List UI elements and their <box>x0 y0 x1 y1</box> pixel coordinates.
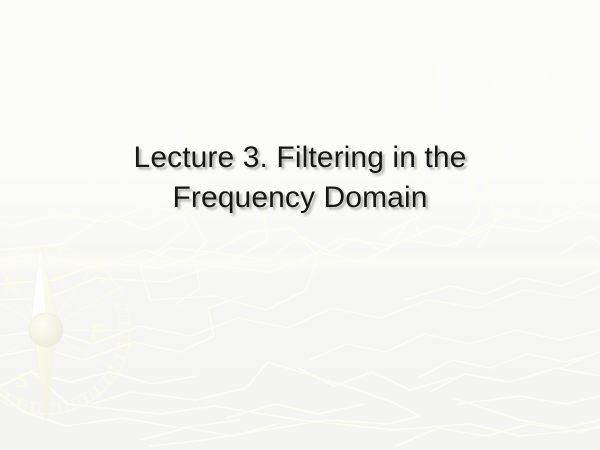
compass-label-w: W <box>2 274 21 296</box>
compass-rose-watermark: N E S W <box>0 0 600 450</box>
background-tone-band <box>0 252 600 274</box>
title-line-2: Frequency Domain <box>0 178 600 218</box>
compass-label-e: E <box>89 319 105 344</box>
page-title: Lecture 3. Filtering in the Frequency Do… <box>0 138 600 218</box>
compass-cardinal-labels: N E S W <box>2 264 104 392</box>
compass-label-s: S <box>16 367 28 392</box>
compass-needle <box>32 246 58 424</box>
compass-tick-ring <box>0 246 130 414</box>
title-line-1: Lecture 3. Filtering in the <box>0 138 600 178</box>
topographic-contour-lines <box>0 0 600 450</box>
compass-hub <box>29 313 63 347</box>
compass-label-n: N <box>51 264 69 289</box>
compass-spokes <box>0 252 130 374</box>
title-slide: N E S W Lecture 3. Filtering in the Freq… <box>0 0 600 450</box>
